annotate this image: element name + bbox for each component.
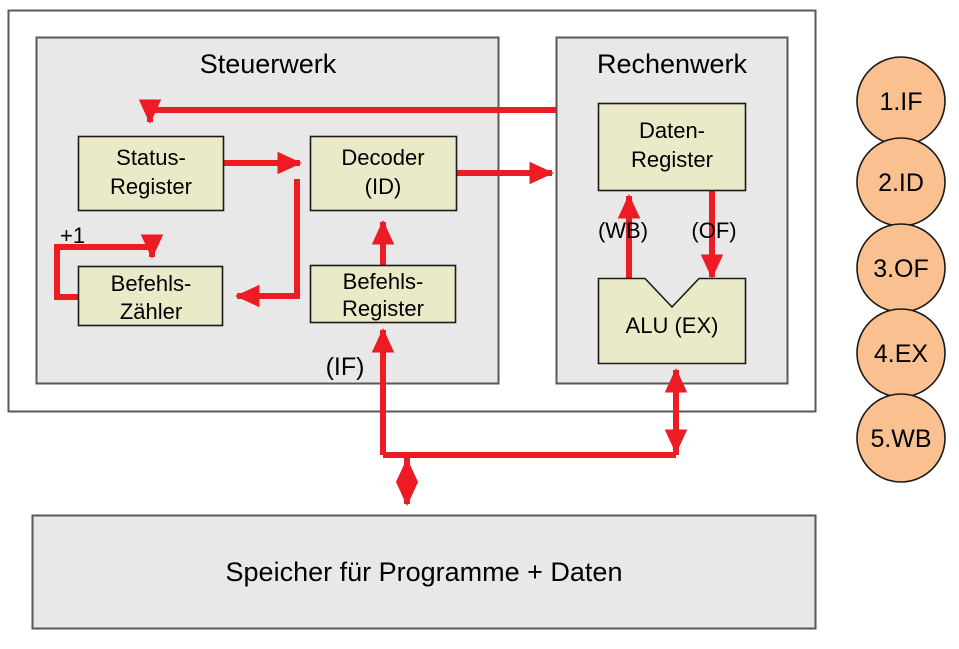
increment-label: +1 (60, 223, 85, 248)
data-register-line2: Register (631, 147, 713, 172)
decoder-line2: (ID) (365, 174, 402, 199)
pipeline-stage-circle-2[interactable]: 2.ID (857, 138, 945, 226)
memory-label: Speicher für Programme + Daten (226, 557, 623, 587)
instruction-register-line1: Befehls- (343, 269, 424, 294)
status-register-box: Status- Register (79, 137, 224, 211)
pipeline-stage-label-2: 2.ID (878, 169, 924, 197)
status-register-line2: Register (110, 174, 192, 199)
program-counter-box: Befehls- Zähler (79, 267, 223, 326)
data-register-box: Daten- Register (599, 104, 746, 191)
pipeline-stage-label-4: 4.EX (874, 340, 929, 368)
memory-box: Speicher für Programme + Daten (33, 516, 816, 629)
instruction-fetch-label: (IF) (326, 353, 365, 381)
instruction-register-box: Befehls- Register (311, 266, 456, 323)
pipeline-stage-label-1: 1.IF (879, 88, 922, 116)
data-register-line1: Daten- (639, 118, 705, 143)
pipeline-stage-label-3: 3.OF (873, 255, 929, 283)
pipeline-stage-label-5: 5.WB (870, 425, 931, 453)
program-counter-line1: Befehls- (111, 271, 192, 296)
control-unit-label: Steuerwerk (200, 49, 337, 79)
cpu-block-diagram: Steuerwerk Rechenwerk (0, 0, 959, 649)
decoder-line1: Decoder (341, 145, 424, 170)
alu-label: ALU (EX) (626, 313, 719, 338)
arith-unit-label: Rechenwerk (597, 49, 748, 79)
pipeline-stage-circle-4[interactable]: 4.EX (857, 309, 945, 397)
pipeline-stage-circle-1[interactable]: 1.IF (857, 57, 945, 145)
diagram-canvas: Steuerwerk Rechenwerk (0, 0, 959, 649)
pipeline-stage-circle-3[interactable]: 3.OF (857, 224, 945, 312)
decoder-box: Decoder (ID) (311, 137, 457, 211)
operand-fetch-label: (OF) (691, 218, 736, 243)
pipeline-stage-circle-5[interactable]: 5.WB (857, 394, 945, 482)
write-back-label: (WB) (598, 218, 648, 243)
status-register-line1: Status- (116, 145, 186, 170)
instruction-register-line2: Register (342, 296, 424, 321)
program-counter-line2: Zähler (120, 299, 182, 324)
